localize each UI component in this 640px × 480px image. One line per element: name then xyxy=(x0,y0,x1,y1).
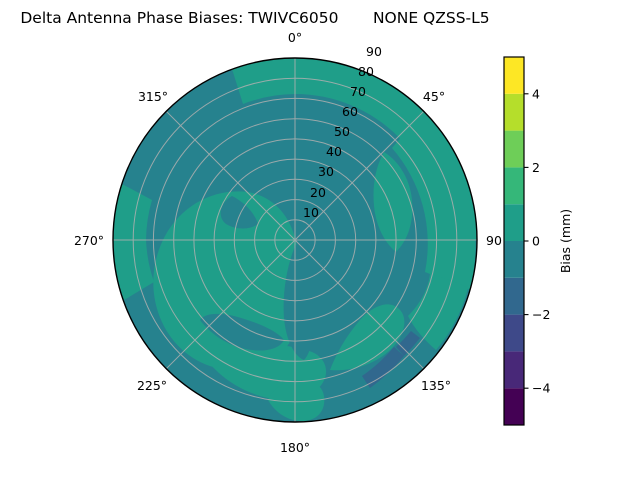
colorbar-band-7 xyxy=(504,131,524,168)
colorbar-band-9 xyxy=(504,57,524,94)
colorbar-band-5 xyxy=(504,204,524,241)
colorbar-tick-4: 4 xyxy=(532,86,540,101)
colorbar-tick-labels: 4 2 0 −2 −4 xyxy=(532,86,550,395)
colorbar-tick-0: 0 xyxy=(532,234,540,249)
colorbar[interactable]: 4 2 0 −2 −4 Bias (mm) xyxy=(504,57,573,425)
radial-tick-80: 80 xyxy=(358,64,374,79)
angular-tick-0: 0° xyxy=(288,30,302,45)
colorbar-band-0 xyxy=(504,388,524,425)
colorbar-bands xyxy=(504,57,524,425)
colorbar-band-3 xyxy=(504,278,524,315)
colorbar-tick-neg2: −2 xyxy=(532,307,550,322)
radial-tick-50: 50 xyxy=(334,124,350,139)
radial-tick-90: 90 xyxy=(366,44,382,59)
colorbar-tick-2: 2 xyxy=(532,160,540,175)
colorbar-band-2 xyxy=(504,315,524,352)
polar-grid xyxy=(113,58,477,422)
radial-tick-10: 10 xyxy=(303,205,319,220)
colorbar-ticks xyxy=(524,94,529,388)
angular-tick-135: 135° xyxy=(421,378,451,393)
radial-tick-40: 40 xyxy=(326,144,342,159)
angular-tick-90: 90 xyxy=(486,233,502,248)
angular-tick-45: 45° xyxy=(423,89,445,104)
angular-tick-315: 315° xyxy=(138,89,168,104)
colorbar-band-6 xyxy=(504,167,524,204)
angular-tick-180: 180° xyxy=(280,440,310,455)
radial-tick-20: 20 xyxy=(310,185,326,200)
colorbar-band-8 xyxy=(504,94,524,131)
colorbar-tick-neg4: −4 xyxy=(532,381,550,396)
colorbar-band-4 xyxy=(504,241,524,278)
figure-canvas: Delta Antenna Phase Biases: TWIVC6050 NO… xyxy=(0,0,640,480)
radial-tick-60: 60 xyxy=(342,104,358,119)
angular-tick-225: 225° xyxy=(137,378,167,393)
angular-tick-270: 270° xyxy=(74,233,104,248)
radial-tick-70: 70 xyxy=(350,84,366,99)
colorbar-band-1 xyxy=(504,351,524,388)
radial-tick-30: 30 xyxy=(318,164,334,179)
plot-svg: 0° 45° 90 135° 180° 225° 270° 315° 10 20… xyxy=(0,0,640,480)
colorbar-axis-label: Bias (mm) xyxy=(558,209,573,273)
